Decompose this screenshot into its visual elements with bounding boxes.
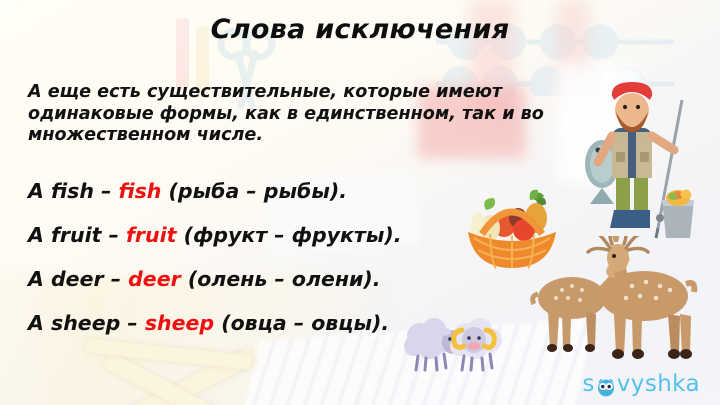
example-dash: – xyxy=(109,223,119,247)
example-dash: – xyxy=(127,311,137,335)
list-item: A sheep – sheep (овца – овцы). xyxy=(28,312,508,334)
example-plural: deer xyxy=(128,267,181,291)
list-item: A deer – deer (олень – олени). xyxy=(28,268,508,290)
page-title: Слова исключения xyxy=(0,14,720,45)
example-plural: fish xyxy=(118,179,161,203)
deer-illustration xyxy=(528,236,708,362)
example-gloss: (овца – овцы). xyxy=(221,311,389,335)
list-item: A fruit – fruit (фрукт – фрукты). xyxy=(28,224,508,246)
examples-list: A fish – fish (рыба – рыбы). A fruit – f… xyxy=(28,180,508,356)
example-singular: A sheep xyxy=(28,311,120,335)
example-dash: – xyxy=(111,267,121,291)
example-gloss: (фрукт – фрукты). xyxy=(184,223,402,247)
example-dash: – xyxy=(101,179,111,203)
fish-bucket-illustration xyxy=(650,180,706,242)
owl-icon xyxy=(596,377,616,397)
example-gloss: (олень – олени). xyxy=(188,267,381,291)
example-plural: fruit xyxy=(126,223,176,247)
example-singular: A fish xyxy=(28,179,94,203)
example-gloss: (рыба – рыбы). xyxy=(169,179,347,203)
sovyshka-logo[interactable]: s vyshka xyxy=(582,371,700,397)
slide-canvas: Слова исключения А еще есть существитель… xyxy=(0,0,720,405)
example-singular: A deer xyxy=(28,267,104,291)
logo-text-before: s xyxy=(582,371,594,397)
example-plural: sheep xyxy=(145,311,214,335)
example-singular: A fruit xyxy=(28,223,101,247)
logo-text-after: vyshka xyxy=(617,371,700,397)
list-item: A fish – fish (рыба – рыбы). xyxy=(28,180,508,202)
lead-paragraph: А еще есть существительные, которые имею… xyxy=(28,82,588,147)
